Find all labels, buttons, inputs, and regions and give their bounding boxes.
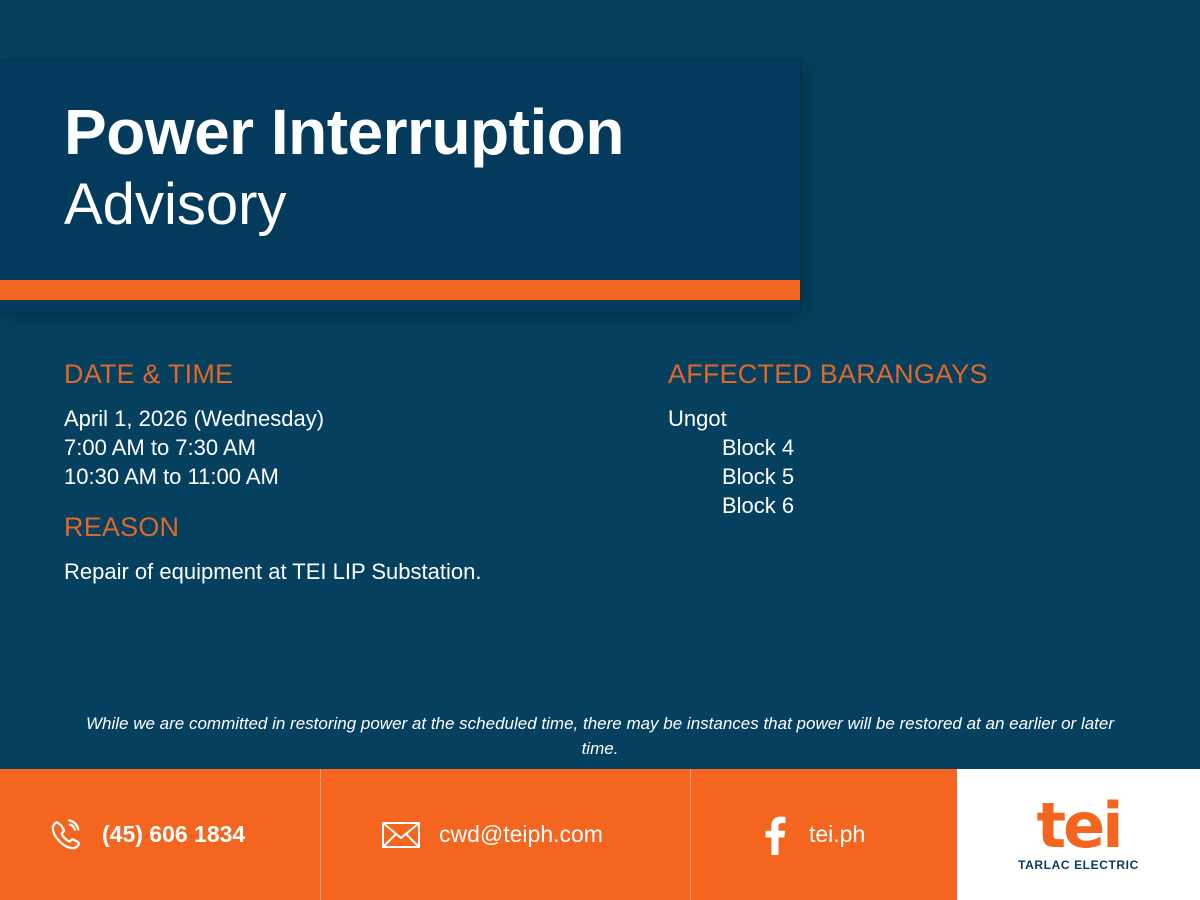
affected-barangays-heading: AFFECTED BARANGAYS: [668, 360, 1148, 390]
phone-ringing-icon: [48, 817, 84, 853]
time-line-1: 7:00 AM to 7:30 AM: [64, 433, 644, 462]
page-title: Power Interruption: [64, 100, 780, 164]
right-column: AFFECTED BARANGAYS Ungot Block 4 Block 5…: [668, 360, 1148, 521]
date-time-heading: DATE & TIME: [64, 360, 644, 390]
advisory-poster: Power Interruption Advisory DATE & TIME …: [0, 0, 1200, 900]
disclaimer-text: While we are committed in restoring powe…: [80, 712, 1120, 761]
barangay-name: Ungot: [668, 404, 1148, 433]
tei-logo-subtitle: TARLAC ELECTRIC: [1018, 858, 1139, 872]
footer-facebook-item[interactable]: tei.ph: [691, 769, 957, 900]
phone-number: (45) 606 1834: [102, 821, 245, 848]
header-panel: Power Interruption Advisory: [0, 60, 800, 312]
footer-phone-item[interactable]: (45) 606 1834: [0, 769, 320, 900]
brand-logo-panel: tei TARLAC ELECTRIC: [957, 769, 1200, 900]
facebook-handle: tei.ph: [809, 821, 865, 848]
page-subtitle: Advisory: [64, 170, 780, 240]
header-accent-bar: [0, 280, 800, 300]
facebook-icon: [761, 815, 787, 855]
barangay-block-item: Block 6: [668, 491, 1148, 520]
envelope-icon: [381, 819, 421, 851]
barangay-block-item: Block 4: [668, 433, 1148, 462]
date-line: April 1, 2026 (Wednesday): [64, 404, 644, 433]
barangay-block-item: Block 5: [668, 462, 1148, 491]
reason-text: Repair of equipment at TEI LIP Substatio…: [64, 557, 644, 586]
reason-heading: REASON: [64, 513, 644, 543]
left-column: DATE & TIME April 1, 2026 (Wednesday) 7:…: [64, 360, 644, 586]
header-text-block: Power Interruption Advisory: [64, 100, 780, 240]
time-line-2: 10:30 AM to 11:00 AM: [64, 462, 644, 491]
footer-email-item[interactable]: cwd@teiph.com: [321, 769, 690, 900]
email-address: cwd@teiph.com: [439, 821, 603, 848]
tei-logo-mark: tei: [1037, 797, 1121, 854]
